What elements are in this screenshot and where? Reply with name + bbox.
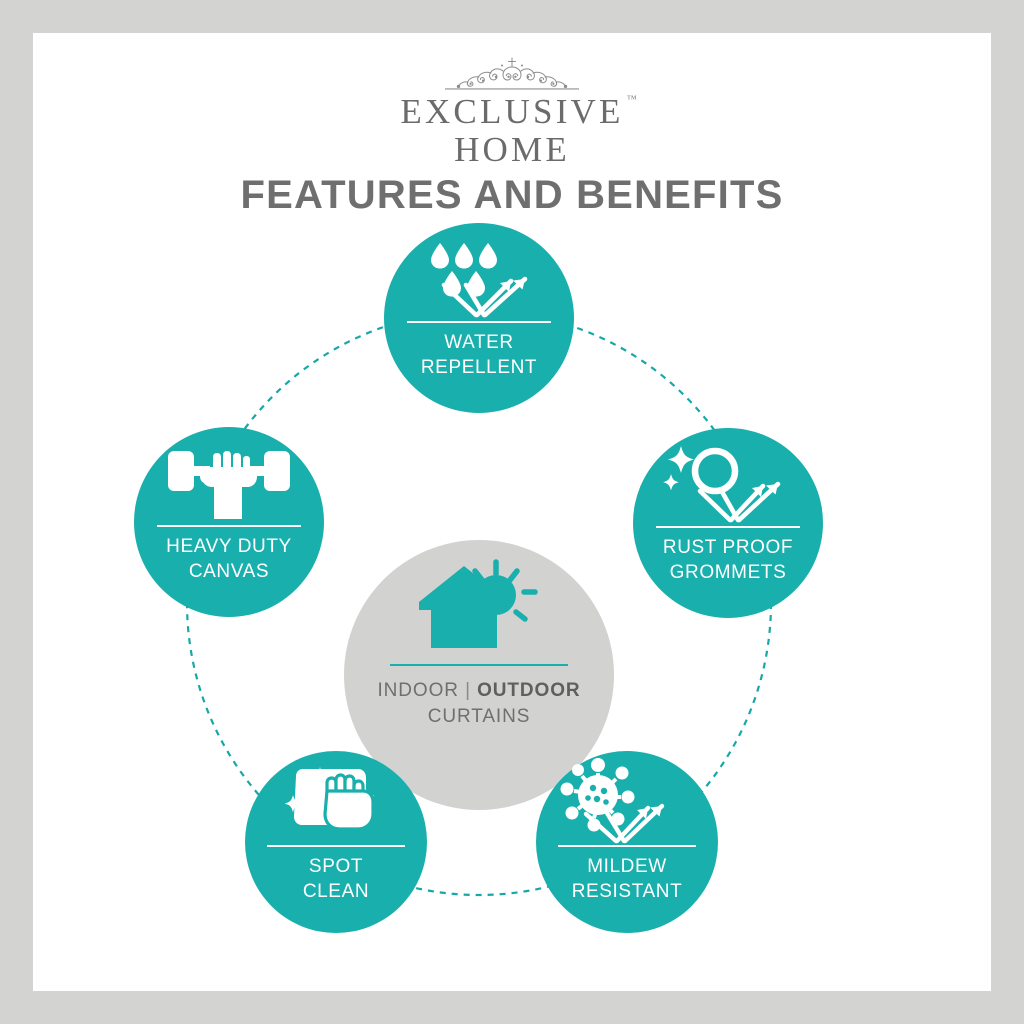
node-divider-rule bbox=[157, 525, 301, 527]
mildew-spore-repelling-icon bbox=[536, 751, 718, 851]
feature-label-line2: RESISTANT bbox=[536, 880, 718, 904]
feature-node-spot-clean[interactable]: SPOT CLEAN bbox=[245, 751, 427, 933]
trademark-symbol: ™ bbox=[627, 95, 637, 106]
water-droplets-repelling-icon bbox=[384, 223, 574, 327]
feature-label-line1: MILDEW bbox=[536, 855, 718, 879]
house-with-sun-icon bbox=[344, 540, 614, 658]
feature-label-line2: CLEAN bbox=[245, 880, 427, 904]
center-label-line2: CURTAINS bbox=[344, 704, 614, 730]
feature-node-rust-proof-grommets[interactable]: RUST PROOF GROMMETS bbox=[633, 428, 823, 618]
feature-label-line1: WATER bbox=[384, 331, 574, 355]
feature-node-heavy-duty-canvas[interactable]: HEAVY DUTY CANVAS bbox=[134, 427, 324, 617]
feature-label-line1: HEAVY DUTY bbox=[134, 535, 324, 559]
feature-label-line2: GROMMETS bbox=[633, 561, 823, 585]
center-divider-bar: | bbox=[465, 680, 471, 701]
hand-wiping-cloth-icon bbox=[245, 751, 427, 851]
feature-label-line2: CANVAS bbox=[134, 560, 324, 584]
center-indoor-text: INDOOR bbox=[377, 680, 458, 701]
brand-name-exclusive: EXCLUSIVE bbox=[400, 92, 623, 131]
feature-label-line1: SPOT bbox=[245, 855, 427, 879]
brand-logo: EXCLUSIVE ™ HOME bbox=[33, 55, 991, 169]
scrollwork-crown-ornament-icon bbox=[417, 55, 607, 91]
center-divider-rule bbox=[390, 664, 568, 666]
infographic-canvas: EXCLUSIVE ™ HOME FEATURES AND BENEFITS bbox=[33, 33, 991, 991]
node-divider-rule bbox=[656, 526, 800, 528]
node-divider-rule bbox=[558, 845, 696, 847]
node-divider-rule bbox=[267, 845, 405, 847]
sparkling-grommet-ring-icon bbox=[633, 428, 823, 532]
feature-label-line2: REPELLENT bbox=[384, 356, 574, 380]
feature-label-line1: RUST PROOF bbox=[633, 536, 823, 560]
center-outdoor-text: OUTDOOR bbox=[477, 680, 580, 701]
brand-name-line2: HOME bbox=[33, 130, 991, 169]
brand-name-line1: EXCLUSIVE ™ bbox=[400, 93, 623, 130]
fist-holding-dumbbell-icon bbox=[134, 427, 324, 531]
center-label-line1: INDOOR | OUTDOOR bbox=[344, 678, 614, 704]
page-title: FEATURES AND BENEFITS bbox=[33, 173, 991, 218]
features-diagram: INDOOR | OUTDOOR CURTAINS bbox=[33, 233, 991, 973]
feature-node-water-repellent[interactable]: WATER REPELLENT bbox=[384, 223, 574, 413]
node-divider-rule bbox=[407, 321, 551, 323]
feature-node-mildew-resistant[interactable]: MILDEW RESISTANT bbox=[536, 751, 718, 933]
